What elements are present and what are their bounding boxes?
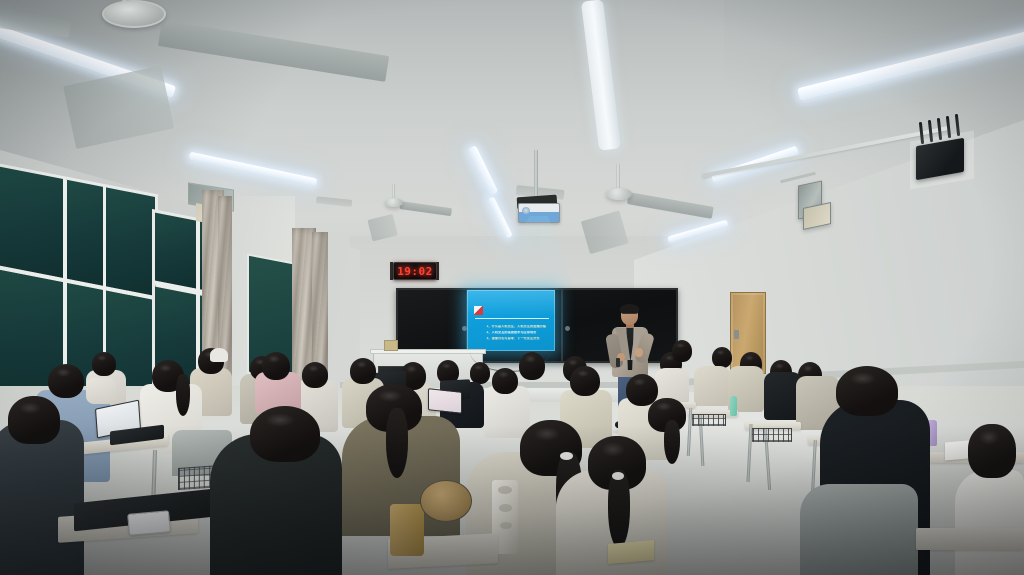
projector-lens-icon [522,207,530,214]
ceiling-fan-2 [560,186,710,242]
podium-object [384,340,398,351]
led-wall-clock: 19:02 [393,262,437,280]
slide-logo-icon [474,306,483,315]
projection-screen: 1、什么是人机交互，人机交互的发展历程 2、人机交互的关键技术与应用场景 3、课… [467,290,555,351]
desk-foreground-right [916,528,1024,550]
student-head-left-far-1 [92,352,116,376]
bag-item [390,504,424,556]
student-head-left-far-4 [302,362,328,388]
student-head-foreground-left [8,396,60,444]
thermos-pattern [500,522,512,529]
hair-tie [612,472,624,480]
fan-rod [616,164,620,190]
tablet-mid-1[interactable] [428,388,462,414]
clock-time-text: 19:02 [397,265,433,278]
fan-hub [606,188,632,200]
slide-line-3: 3、课堂讨论与思考：下一代交互方式 [486,337,549,341]
classroom-photo: 19:02 1、什么是人机交互，人机交互的发展历程 2、人机交互的关键技术与应用… [0,0,1024,575]
slide-line-1: 1、什么是人机交互，人机交互的发展历程 [486,325,549,329]
slide-line-2: 2、人机交互的关键技术与应用场景 [486,331,549,335]
student-head-pink [262,352,290,380]
slide-divider [475,318,549,319]
student-head-foreground-right [836,366,898,416]
student-head-denim [48,364,84,398]
student-head-far-7 [712,347,732,368]
student-head-far-6 [672,340,692,362]
presenter-remote [616,358,620,367]
ceiling-fan-1 [40,0,380,114]
fan-hub [102,0,166,28]
student-head-center-dark [250,406,320,462]
student-torso-white-right [955,470,1024,575]
mint-water-bottle [730,396,737,416]
ponytail [176,374,190,416]
white-phone[interactable] [127,510,171,536]
chair-basket [752,428,792,442]
student-head-left-far-5 [350,358,376,384]
thermos-pattern [498,486,512,494]
fan-blade [627,192,714,219]
straw-bag [420,480,472,522]
student-torso-right-2 [694,366,730,406]
hair-band [210,348,228,362]
fan-hub [385,198,403,207]
student-head-white-right [968,424,1016,478]
thermos-pattern [499,504,512,512]
student-head-mid-3 [492,368,518,394]
door-handle-icon[interactable] [734,330,739,339]
student-head-far-2 [470,362,490,384]
student-head-far-3 [519,352,545,380]
fan-blade [158,20,389,82]
ponytail [386,408,408,478]
lecturer-hand-right [635,348,643,357]
ponytail [608,470,630,548]
sticky-notes [608,540,654,564]
hair-tie [560,452,573,460]
student-head-mid-4 [570,366,600,396]
ponytail [664,420,680,464]
fan-blade [399,201,452,216]
chair-backrest-right [800,484,918,575]
slide-text-block: 1、什么是人机交互，人机交互的发展历程 2、人机交互的关键技术与应用场景 3、课… [486,325,549,340]
glasses-icon [622,313,637,316]
chair-basket [692,414,726,426]
projector-pole [534,150,538,202]
scarf [86,378,116,404]
ceiling-fan-3 [352,196,448,236]
